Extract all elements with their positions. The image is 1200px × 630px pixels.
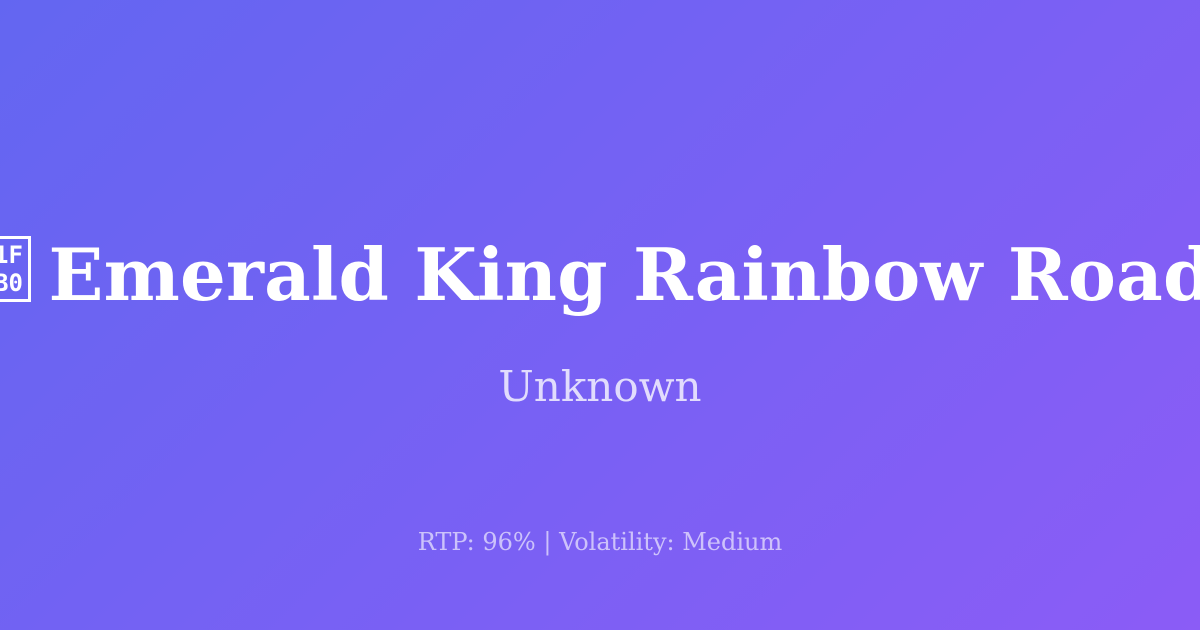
- page-title: 1FB0Emerald King Rainbow Road: [0, 235, 1200, 316]
- open-graph-card: 1FB0Emerald King Rainbow Road Unknown RT…: [0, 0, 1200, 630]
- card-meta-line: RTP: 96% | Volatility: Medium: [0, 527, 1200, 557]
- page-title-text: Emerald King Rainbow Road: [49, 232, 1200, 317]
- slot-machine-icon-hex-bottom: B0: [0, 270, 28, 296]
- card-subtitle: Unknown: [0, 363, 1200, 411]
- title-row: 1FB0Emerald King Rainbow Road: [0, 232, 1200, 318]
- slot-machine-icon: 1FB0: [0, 236, 31, 302]
- slot-machine-icon-hex-top: 1F: [0, 242, 28, 268]
